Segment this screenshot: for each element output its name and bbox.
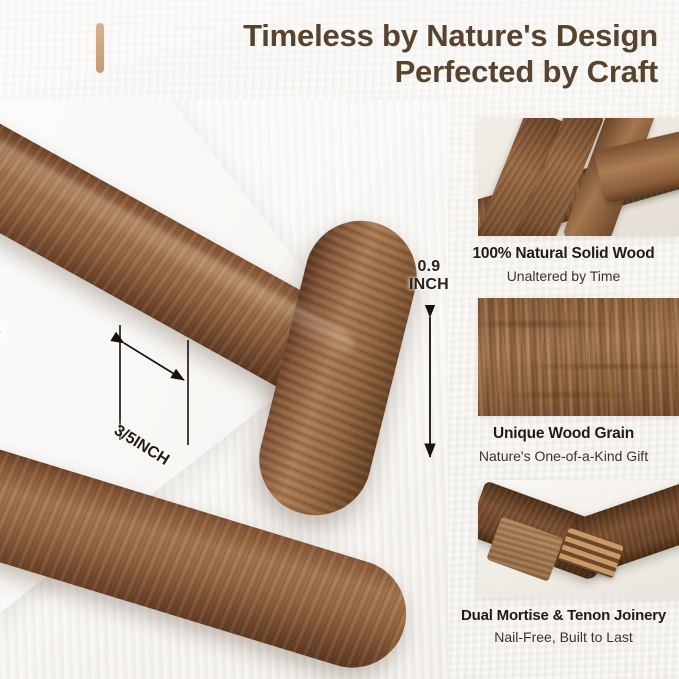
headline-line-2: Perfected by Craft bbox=[104, 54, 658, 90]
feature-thumbnail-wood-grain[interactable] bbox=[478, 298, 679, 416]
headline-block: Timeless by Nature's Design Perfected by… bbox=[96, 18, 668, 110]
feature-list: 100% Natural Solid Wood Unaltered by Tim… bbox=[448, 118, 679, 679]
feature-caption: Unique Wood Grain Nature's One-of-a-Kind… bbox=[448, 425, 679, 465]
feature-item: Unique Wood Grain Nature's One-of-a-Kind… bbox=[448, 298, 679, 465]
infographic-canvas: Timeless by Nature's Design Perfected by… bbox=[0, 0, 679, 679]
feature-title: Unique Wood Grain bbox=[452, 425, 675, 444]
headline-line-1: Timeless by Nature's Design bbox=[104, 18, 658, 54]
accent-bar-icon bbox=[96, 23, 104, 73]
feature-subtitle: Unaltered by Time bbox=[452, 267, 675, 285]
dimension-depth-unit: INCH bbox=[409, 276, 449, 294]
dimension-arrow-vertical-icon bbox=[400, 305, 460, 505]
dimension-depth-value: 0.9 bbox=[409, 258, 449, 276]
feature-caption: Dual Mortise & Tenon Joinery Nail-Free, … bbox=[448, 607, 679, 646]
feature-title: 100% Natural Solid Wood bbox=[452, 245, 675, 264]
dimension-arrow-diagonal-icon bbox=[0, 100, 448, 679]
feature-item: 100% Natural Solid Wood Unaltered by Tim… bbox=[448, 118, 679, 285]
feature-title: Dual Mortise & Tenon Joinery bbox=[452, 607, 675, 625]
feature-subtitle: Nail-Free, Built to Last bbox=[452, 628, 675, 646]
dimension-annotation-width: 3/5INCH bbox=[0, 100, 448, 679]
feature-thumbnail-mortise-tenon[interactable] bbox=[478, 480, 679, 598]
feature-item: Dual Mortise & Tenon Joinery Nail-Free, … bbox=[448, 480, 679, 646]
thumbnail-background bbox=[478, 298, 679, 416]
feature-caption: 100% Natural Solid Wood Unaltered by Tim… bbox=[448, 245, 679, 285]
feature-subtitle: Nature's One-of-a-Kind Gift bbox=[452, 447, 675, 465]
dimension-label-depth: 0.9 INCH bbox=[409, 258, 449, 294]
feature-thumbnail-solid-wood[interactable] bbox=[478, 118, 679, 236]
page-title: Timeless by Nature's Design Perfected by… bbox=[104, 18, 668, 90]
